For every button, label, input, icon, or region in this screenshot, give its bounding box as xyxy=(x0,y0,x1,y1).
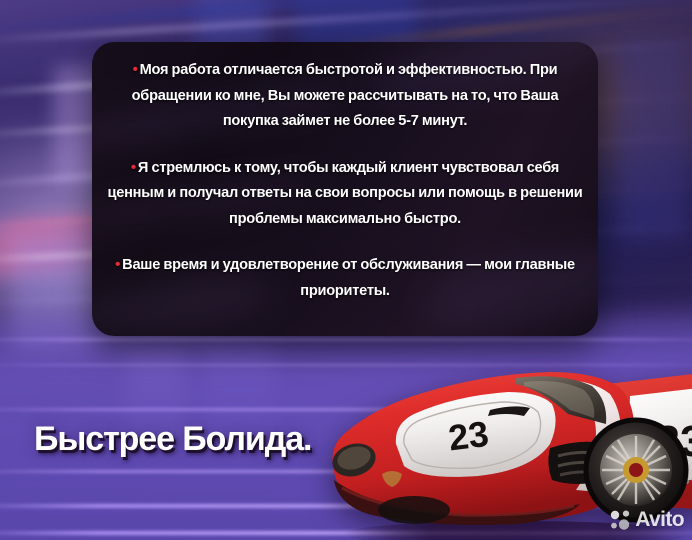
card-content: •Моя работа отличается быстротой и эффек… xyxy=(92,42,598,336)
benefit-paragraph-3: •Ваше время и удовлетворение от обслужив… xyxy=(106,253,584,304)
car-front-wheel xyxy=(378,496,450,524)
promo-banner: •Моя работа отличается быстротой и эффек… xyxy=(0,0,692,540)
benefit-text-2: Я стремлюсь к тому, чтобы каждый клиент … xyxy=(108,160,583,227)
headline-text: Быстрее Болида. xyxy=(34,420,311,459)
bullet-icon: • xyxy=(131,159,136,176)
bullet-icon: • xyxy=(115,256,120,273)
benefit-text-3: Ваше время и удовлетворение от обслужива… xyxy=(122,257,575,299)
bullet-icon: • xyxy=(133,61,138,78)
car-rear-wheel xyxy=(586,420,686,520)
benefit-paragraph-2: •Я стремлюсь к тому, чтобы каждый клиент… xyxy=(106,156,584,233)
benefit-paragraph-1: •Моя работа отличается быстротой и эффек… xyxy=(106,58,584,135)
car-hood-race-number: 23 xyxy=(446,413,491,459)
floor-light-line xyxy=(0,338,692,341)
avito-watermark: Avito xyxy=(610,508,684,532)
info-card: •Моя работа отличается быстротой и эффек… xyxy=(92,42,598,336)
benefit-text-1: Моя работа отличается быстротой и эффект… xyxy=(132,62,559,129)
avito-dots-icon xyxy=(610,509,632,531)
avito-wordmark: Avito xyxy=(635,508,684,532)
